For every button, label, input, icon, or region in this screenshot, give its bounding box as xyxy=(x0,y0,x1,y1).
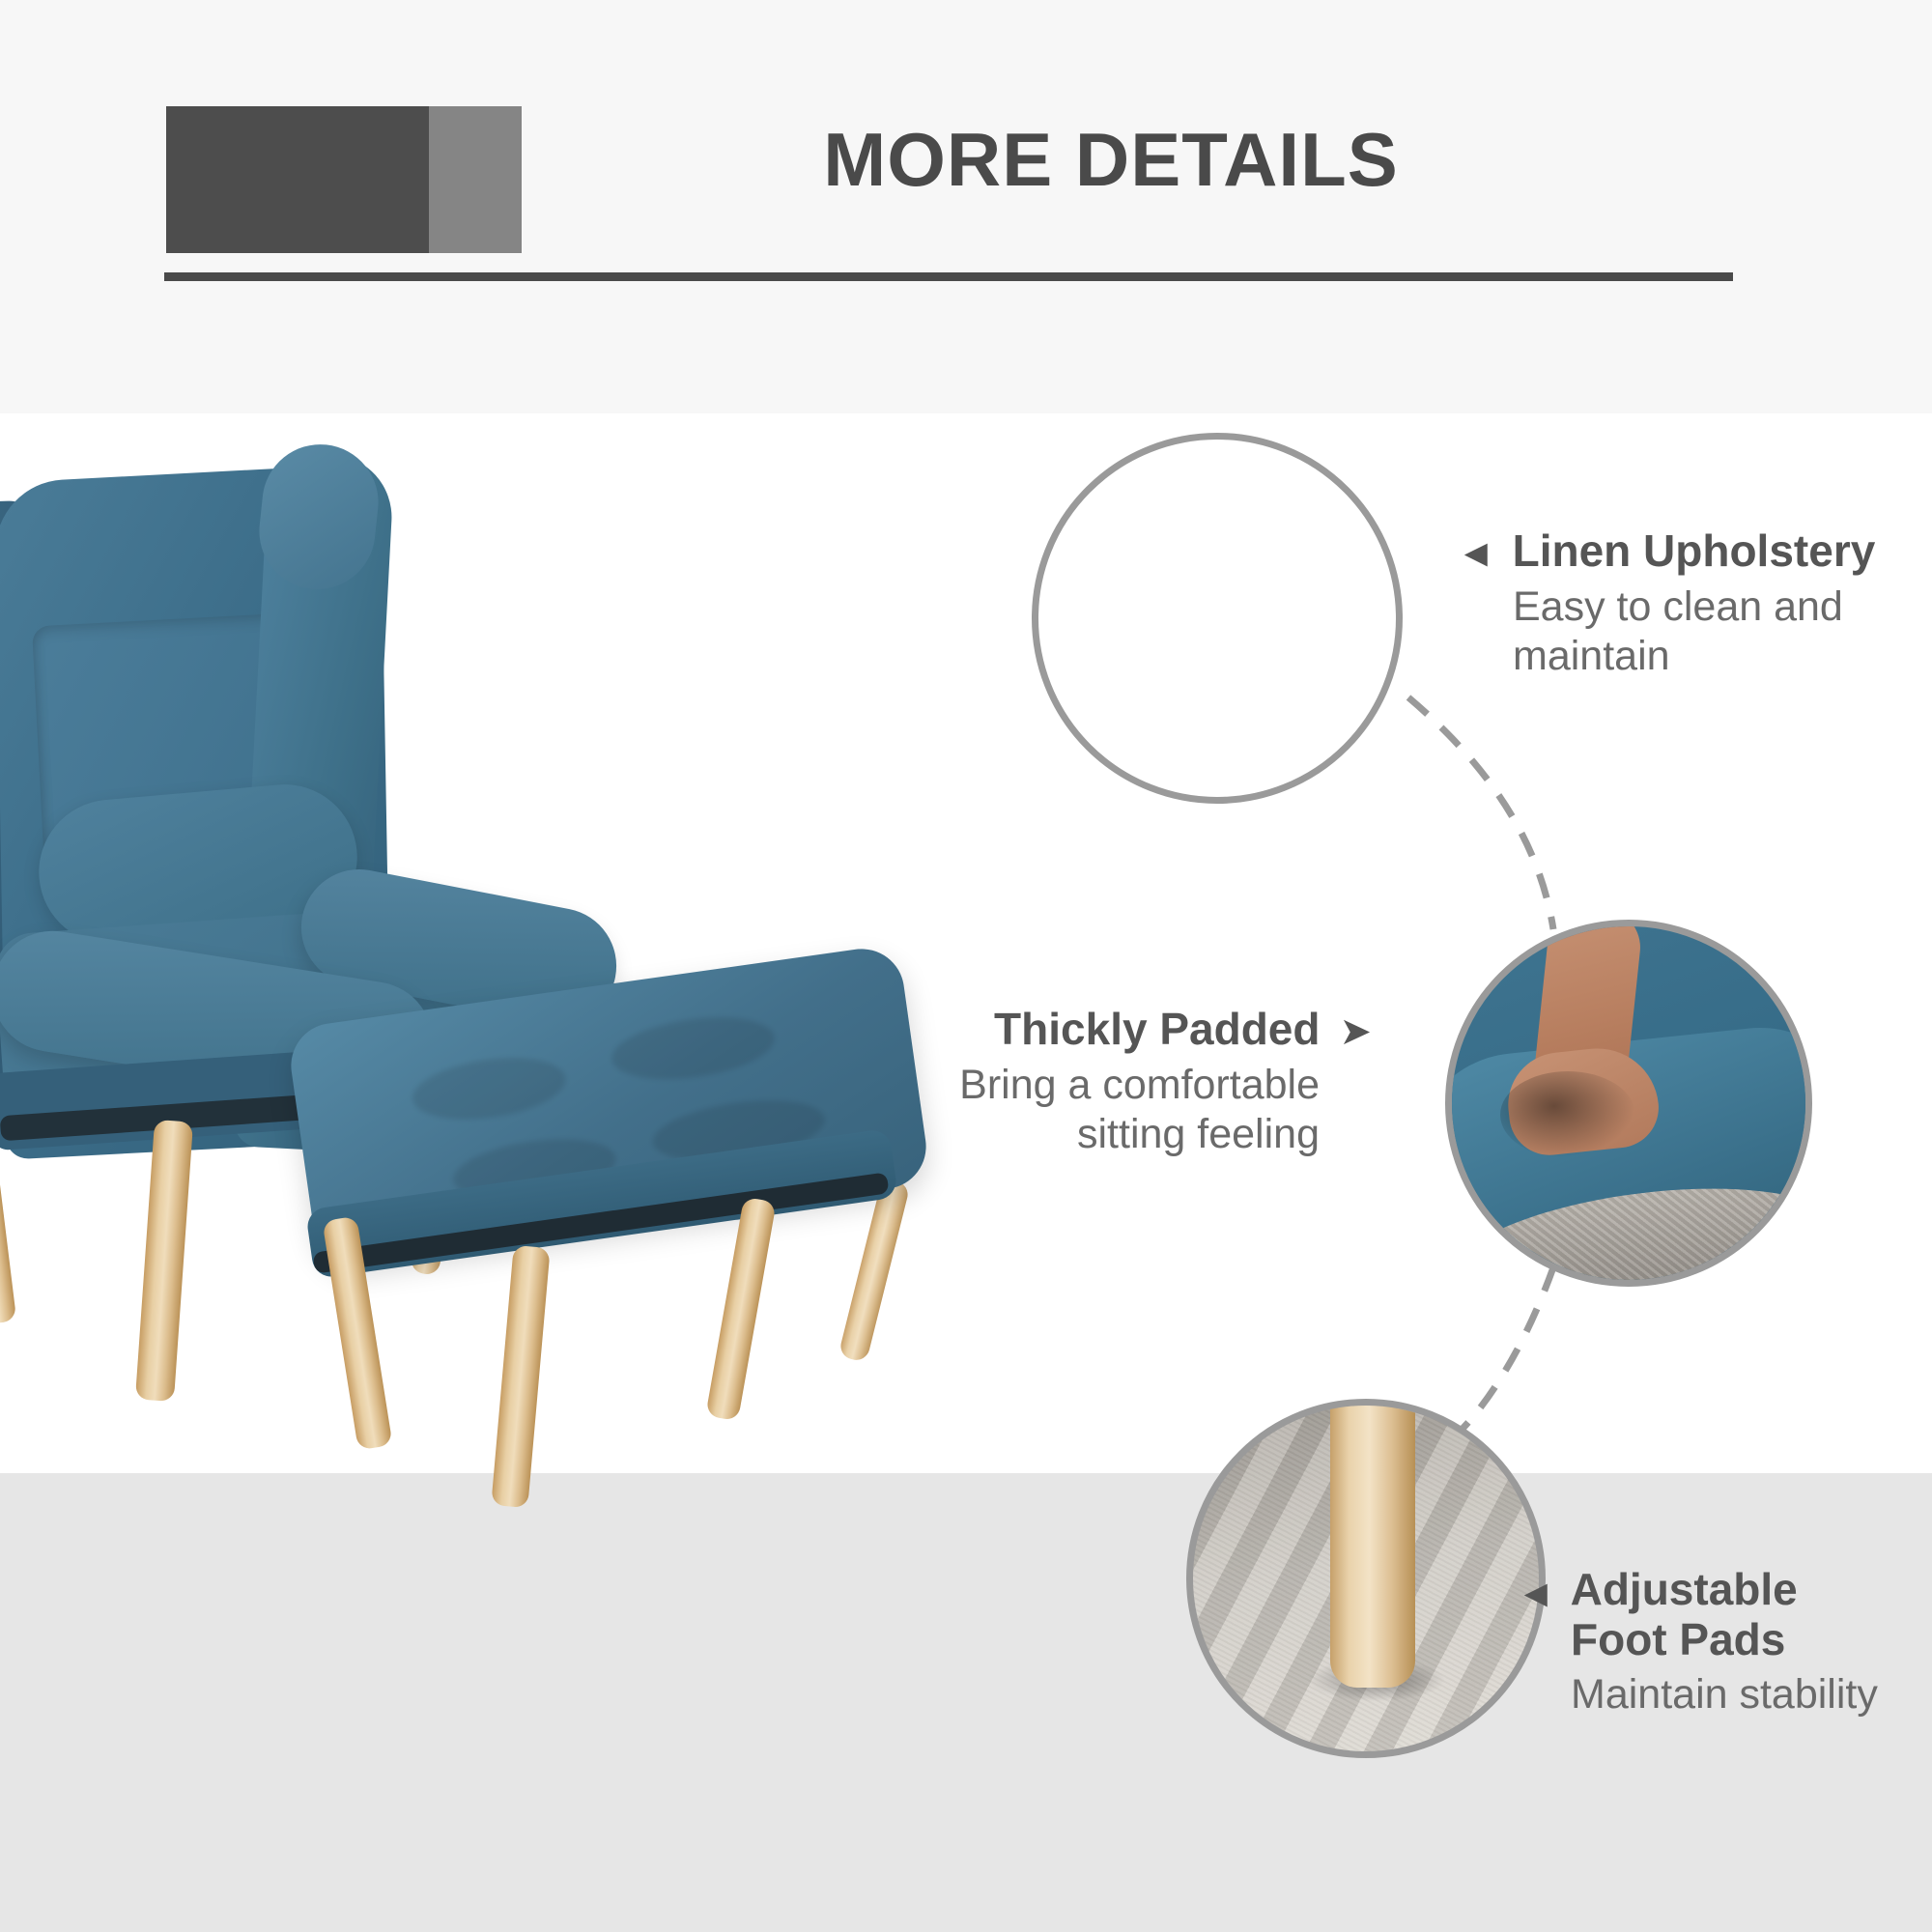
callout-title: Linen Upholstery xyxy=(1513,526,1876,577)
callout-description: Maintain stability xyxy=(1571,1670,1932,1720)
connector-linen-to-padded xyxy=(1333,667,1623,947)
detail-circle-padding-press xyxy=(1445,920,1812,1287)
header-divider-rule xyxy=(164,272,1733,281)
cushion-dimple-shadow xyxy=(1500,1071,1635,1158)
callout-description: Easy to clean and maintain xyxy=(1513,582,1911,682)
ottoman-leg-back-left xyxy=(705,1197,776,1421)
header-decor-block-dark xyxy=(166,106,429,253)
arrow-left-icon: ◄ xyxy=(1517,1575,1555,1613)
detail-circle-foot-pad xyxy=(1186,1399,1546,1758)
callout-title-line2: Foot Pads xyxy=(1571,1615,1932,1665)
ottoman-leg-back-right xyxy=(838,1178,910,1363)
callout-thickly-padded: Thickly Padded ➤ Bring a comfortable sit… xyxy=(889,1005,1372,1160)
ottoman-tuft-seam xyxy=(409,1049,570,1128)
arrow-right-icon: ➤ xyxy=(1339,1012,1372,1051)
product-detail-infographic: MORE DETAILS xyxy=(0,0,1932,1932)
callout-description: Bring a comfortable sitting feeling xyxy=(889,1061,1320,1160)
chair-leg-front-right xyxy=(135,1120,193,1402)
header-band: MORE DETAILS xyxy=(0,0,1932,413)
ottoman-leg-front-right xyxy=(491,1245,550,1508)
ottoman-tuft-seam xyxy=(608,1009,779,1089)
callout-adjustable-foot-pads: ◄ Adjustable Foot Pads Maintain stabilit… xyxy=(1517,1565,1932,1720)
callout-linen-upholstery: ◄ Linen Upholstery Easy to clean and mai… xyxy=(1457,526,1911,682)
header-decor-block-light xyxy=(429,106,522,253)
callout-title-line1: Adjustable xyxy=(1571,1565,1798,1615)
page-title: MORE DETAILS xyxy=(541,122,1681,197)
arrow-left-icon: ◄ xyxy=(1457,534,1495,573)
callout-title: Thickly Padded xyxy=(994,1005,1320,1055)
wooden-leg xyxy=(1330,1399,1415,1688)
